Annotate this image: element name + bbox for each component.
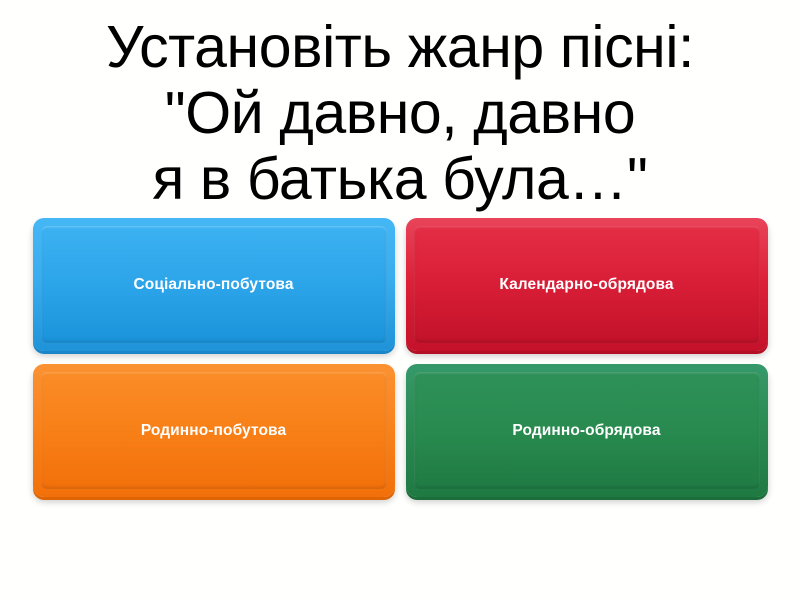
answer-option-face: Родинно-обрядова	[414, 372, 760, 489]
answer-option-rodynno-obryadova[interactable]: Родинно-обрядова	[406, 364, 768, 497]
answer-option-face: Родинно-побутова	[41, 372, 387, 489]
question-text: Установіть жанр пісні: "Ой давно, давно …	[96, 14, 704, 212]
answer-option-social-pobutova[interactable]: Соціально-побутова	[33, 218, 395, 351]
answer-option-kalendarno-obryadova[interactable]: Календарно-обрядова	[406, 218, 768, 351]
answer-option-label: Календарно-обрядова	[499, 275, 673, 294]
answer-option-face: Соціально-побутова	[41, 226, 387, 343]
answer-option-label: Соціально-побутова	[133, 275, 293, 294]
answer-options-grid: Соціально-побутова Календарно-обрядова Р…	[0, 212, 800, 600]
question-area: Установіть жанр пісні: "Ой давно, давно …	[0, 0, 800, 212]
answer-option-label: Родинно-обрядова	[512, 421, 660, 440]
answer-option-label: Родинно-побутова	[141, 421, 286, 440]
answer-option-rodynno-pobutova[interactable]: Родинно-побутова	[33, 364, 395, 497]
answer-option-face: Календарно-обрядова	[414, 226, 760, 343]
quiz-screen: Установіть жанр пісні: "Ой давно, давно …	[0, 0, 800, 600]
